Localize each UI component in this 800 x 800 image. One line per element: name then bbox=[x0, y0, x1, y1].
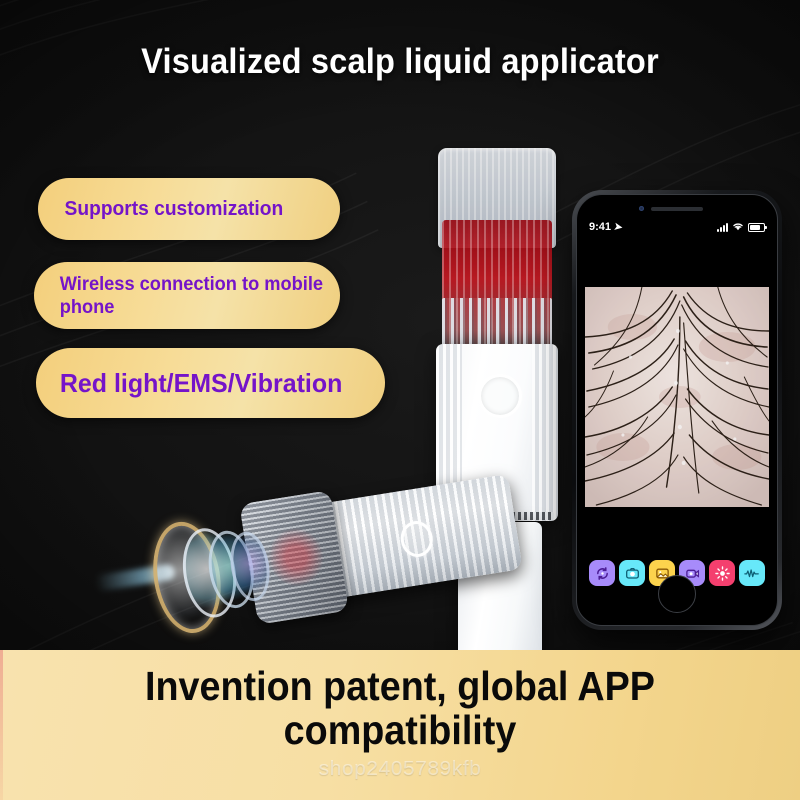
shop-watermark: shop2405789kfb bbox=[0, 758, 800, 781]
banner-headline: Invention patent, global APP compatibili… bbox=[32, 664, 768, 752]
feature-pill-label: Red light/EMS/Vibration bbox=[60, 368, 342, 399]
device-power-ring-button bbox=[478, 374, 522, 418]
device-microneedle-array bbox=[442, 298, 552, 350]
smartphone-mockup: 9:41 ➤ bbox=[572, 190, 782, 630]
home-button[interactable] bbox=[658, 575, 696, 613]
bottom-banner: Invention patent, global APP compatibili… bbox=[0, 650, 800, 800]
front-camera-icon bbox=[639, 206, 644, 211]
camera-icon[interactable] bbox=[619, 560, 645, 586]
battery-icon bbox=[748, 223, 765, 232]
rotate-icon[interactable] bbox=[589, 560, 615, 586]
screen-top-letterbox bbox=[585, 239, 769, 285]
feature-pill-supports-customization[interactable]: Supports customization bbox=[38, 178, 340, 240]
brightness-icon[interactable] bbox=[709, 560, 735, 586]
scalp-microscope-image bbox=[585, 287, 769, 507]
wifi-icon bbox=[732, 221, 744, 234]
page-title: Visualized scalp liquid applicator bbox=[28, 42, 772, 82]
product-poster: Visualized scalp liquid applicator Suppo… bbox=[0, 0, 800, 800]
feature-pill-modes[interactable]: Red light/EMS/Vibration bbox=[36, 348, 385, 418]
feature-pill-wireless-connection[interactable]: Wireless connection to mobile phone bbox=[34, 262, 340, 329]
feature-pill-label: Wireless connection to mobile phone bbox=[60, 273, 335, 319]
feature-pill-label: Supports customization bbox=[65, 198, 284, 221]
earpiece-speaker bbox=[651, 207, 703, 211]
status-bar-time: 9:41 bbox=[589, 221, 611, 233]
waveform-icon[interactable] bbox=[739, 560, 765, 586]
location-arrow-icon: ➤ bbox=[613, 221, 623, 233]
phone-screen[interactable]: 9:41 ➤ bbox=[576, 194, 778, 626]
screen-bottom-letterbox bbox=[585, 507, 769, 555]
phone-status-bar: 9:41 ➤ bbox=[577, 217, 777, 237]
signal-bars-icon bbox=[717, 223, 728, 232]
